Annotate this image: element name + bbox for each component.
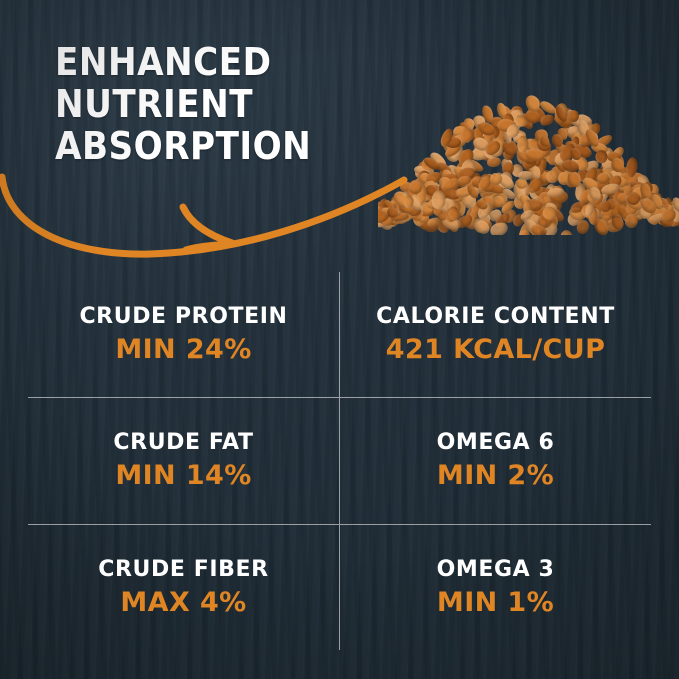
kibble-piece <box>490 173 502 185</box>
spec-value: MAX 4% <box>120 587 246 618</box>
kibble-piece <box>518 171 533 180</box>
kibble-piece <box>559 229 574 235</box>
spec-cell-omega-6: OMEGA 6 MIN 2% <box>340 398 651 523</box>
product-infographic: ENHANCED NUTRIENT ABSORPTION CRUDE PROTE… <box>0 0 679 679</box>
spec-cell-calorie-content: CALORIE CONTENT 421 KCAL/CUP <box>340 272 651 397</box>
curved-arrow-icon <box>0 150 430 275</box>
spec-value: 421 KCAL/CUP <box>386 334 606 365</box>
spec-value: MIN 24% <box>115 334 251 365</box>
spec-label: CALORIE CONTENT <box>376 304 615 329</box>
spec-value: MIN 1% <box>437 587 554 618</box>
kibble-piece <box>516 135 528 153</box>
spec-cell-crude-fiber: CRUDE FIBER MAX 4% <box>28 525 339 650</box>
spec-label: OMEGA 3 <box>437 557 555 582</box>
page-title: ENHANCED NUTRIENT ABSORPTION <box>55 42 311 167</box>
spec-cell-crude-protein: CRUDE PROTEIN MIN 24% <box>28 272 339 397</box>
spec-value: MIN 14% <box>115 460 251 491</box>
spec-label: CRUDE PROTEIN <box>79 304 287 329</box>
spec-value: MIN 2% <box>437 460 554 491</box>
spec-cell-omega-3: OMEGA 3 MIN 1% <box>340 525 651 650</box>
kibble-piece <box>625 214 638 228</box>
spec-cell-crude-fat: CRUDE FAT MIN 14% <box>28 398 339 523</box>
spec-label: CRUDE FIBER <box>98 557 268 582</box>
spec-label: CRUDE FAT <box>113 430 253 455</box>
nutrition-spec-grid: CRUDE PROTEIN MIN 24% CALORIE CONTENT 42… <box>28 272 651 650</box>
spec-label: OMEGA 6 <box>437 430 555 455</box>
